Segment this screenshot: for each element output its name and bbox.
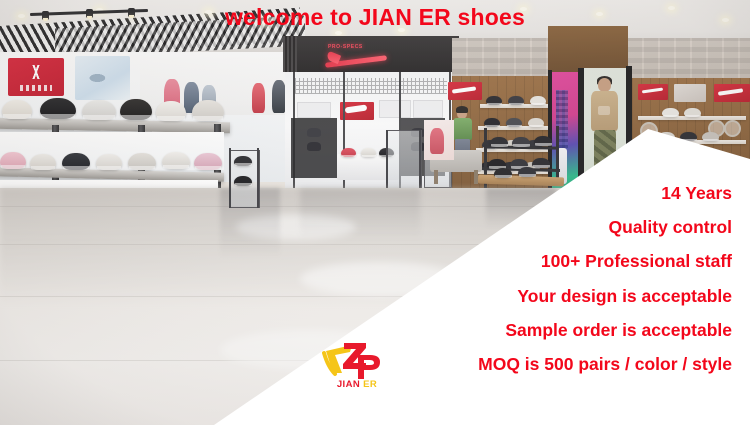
logo-wordmark: JIAN ER	[318, 379, 396, 390]
company-logo: JIAN ER	[318, 337, 396, 397]
selling-point-item: Your design is acceptable	[312, 279, 732, 313]
logo-word-jian: JIAN	[337, 379, 360, 390]
logo-red-p	[358, 355, 380, 379]
promo-banner: PRO-SPECS	[0, 0, 750, 425]
logo-word-er: ER	[363, 379, 377, 390]
page-title: welcome to JIAN ER shoes	[0, 4, 750, 31]
selling-point-item: 14 Years	[312, 176, 732, 210]
selling-point-item: 100+ Professional staff	[312, 244, 732, 278]
jian-er-logo-mark	[322, 337, 384, 381]
selling-point-item: Quality control	[312, 210, 732, 244]
